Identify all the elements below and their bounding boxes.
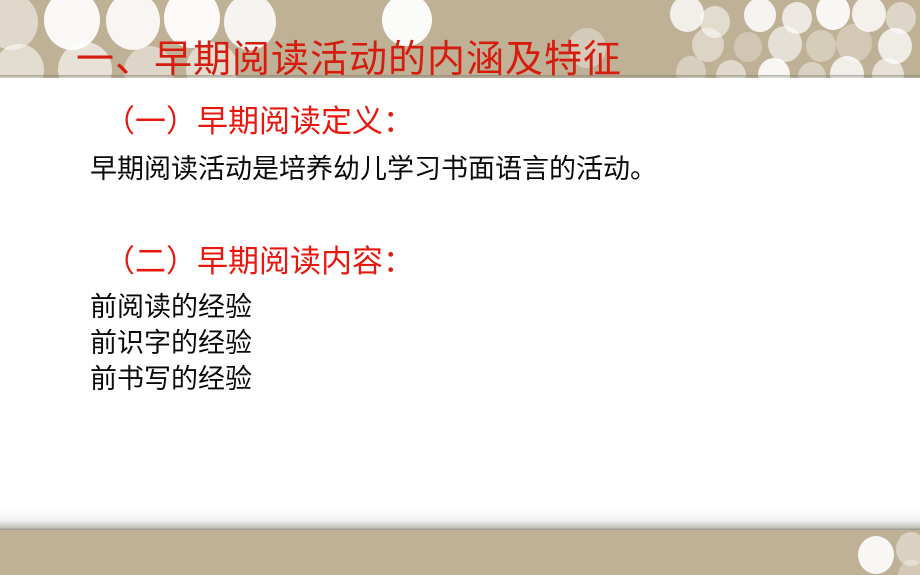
decor-circle	[670, 0, 704, 32]
section-heading-content: （二）早期阅读内容：	[104, 244, 414, 280]
list-item: 前阅读的经验	[90, 292, 252, 323]
decor-circle	[898, 560, 920, 575]
decor-circle	[768, 26, 802, 62]
decor-circle	[744, 0, 776, 32]
section-heading-definition: （一）早期阅读定义：	[104, 104, 414, 140]
decor-circle	[878, 28, 912, 64]
decor-circle	[0, 44, 44, 78]
decor-circle	[852, 0, 886, 32]
decor-circle	[0, 0, 38, 50]
list-item: 前识字的经验	[90, 328, 252, 359]
footer-decorative-band	[0, 530, 920, 575]
decor-circle	[816, 0, 850, 30]
footer-band-highlight	[0, 508, 920, 530]
decor-circle	[692, 28, 724, 62]
decor-circle	[886, 2, 916, 34]
definition-text: 早期阅读活动是培养幼儿学习书面语言的活动。	[90, 154, 657, 185]
decor-circle	[836, 24, 872, 62]
decor-circle	[700, 6, 730, 38]
list-item: 前书写的经验	[90, 364, 252, 395]
decor-circle	[858, 536, 894, 574]
page-title: 一、早期阅读活动的内涵及特征	[76, 38, 622, 82]
presentation-slide: 一、早期阅读活动的内涵及特征 （一）早期阅读定义： 早期阅读活动是培养幼儿学习书…	[0, 0, 920, 575]
decor-circle	[782, 2, 812, 34]
decor-circle	[896, 532, 920, 566]
decor-circle	[734, 32, 762, 62]
decor-circle	[806, 30, 836, 62]
slide-body: （一）早期阅读定义： 早期阅读活动是培养幼儿学习书面语言的活动。 （二）早期阅读…	[0, 78, 920, 508]
